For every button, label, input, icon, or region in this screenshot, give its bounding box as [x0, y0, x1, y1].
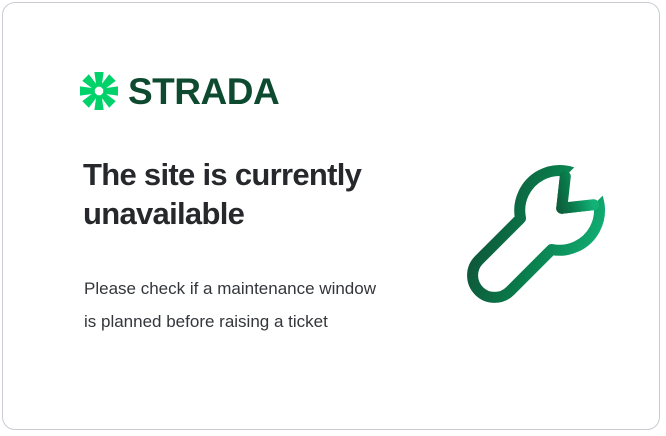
- page-description: Please check if a maintenance window is …: [84, 272, 389, 338]
- brand-lockup: STRADA: [79, 71, 279, 111]
- wrench-icon: [455, 151, 619, 315]
- strada-starburst-icon: [79, 71, 119, 111]
- page-title: The site is currently unavailable: [83, 155, 413, 233]
- status-page-card: STRADA The site is currently unavailable…: [2, 2, 660, 430]
- brand-wordmark: STRADA: [128, 73, 279, 110]
